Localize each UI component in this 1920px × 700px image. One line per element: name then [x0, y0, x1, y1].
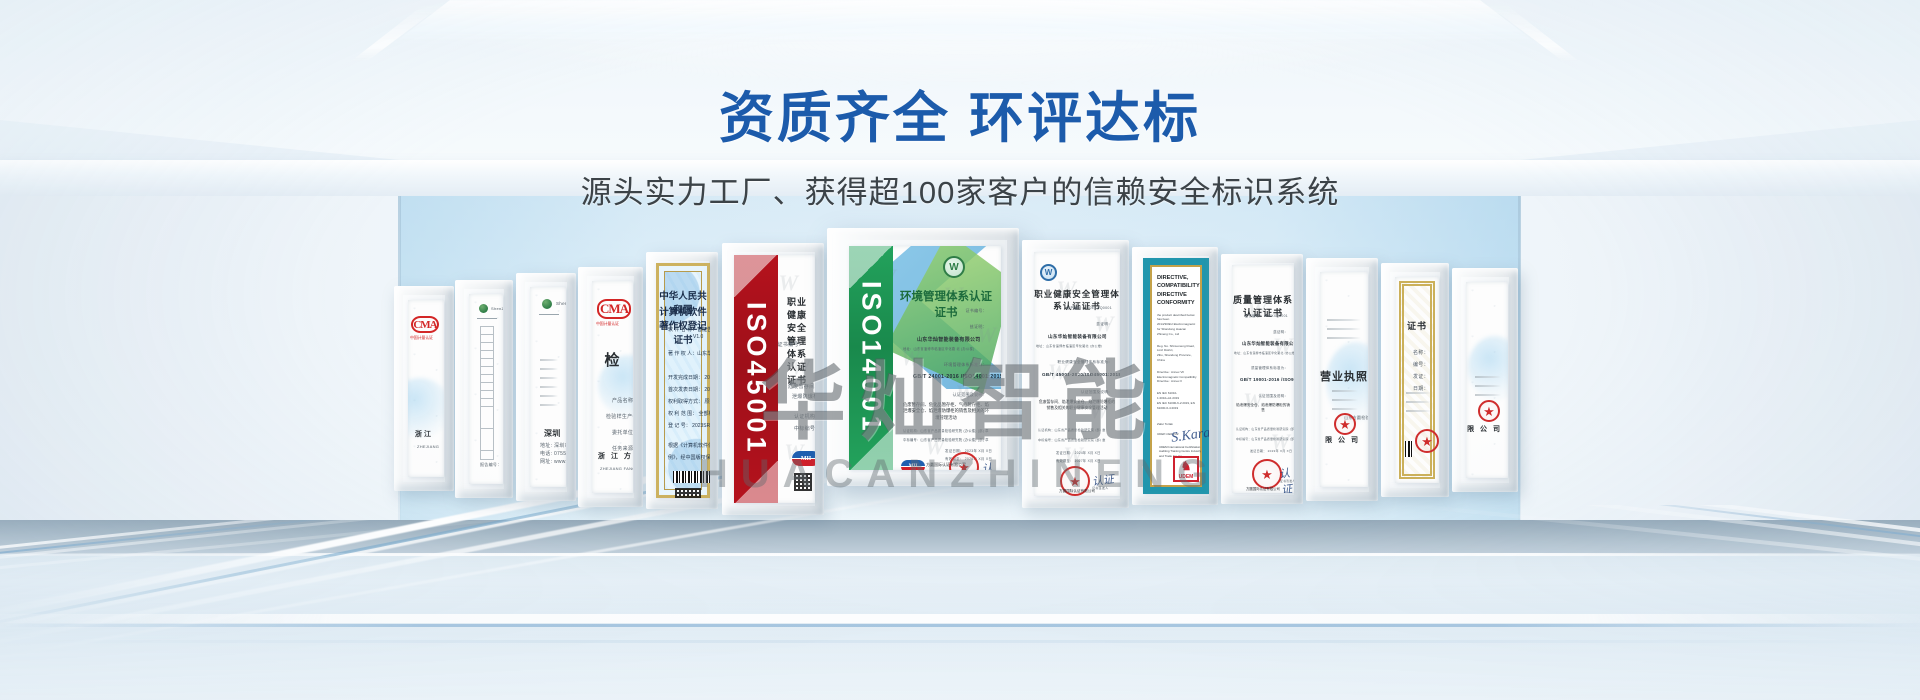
certificate-frame-3[interactable]: ShenZhen 深圳 地址: 深圳市 电话: 0755- 网址: www.sh	[516, 273, 576, 501]
certificate-paper-9: DIRECTIVE, COMPATIBILITY DIRECTIVE CONFO…	[1143, 258, 1209, 494]
iso45001-label: ISO45001	[741, 302, 772, 456]
cert-no-label-7: 证书编号：	[966, 308, 988, 313]
report-fields-3	[540, 359, 558, 413]
cert-footer-sub-4: ZHEJIANG FANGYUAN	[600, 466, 633, 471]
certificate-paper-1: CMA 中国计量认证 浙江 ZHEJIANG	[408, 300, 444, 477]
certificate-frame-8[interactable]: WW WW W W 职业健康安全管理体系认证证书 证书编号： 00EXXQ000…	[1022, 240, 1129, 508]
org-seal-icon-2	[479, 304, 488, 313]
ce-title-line-2: COMPATIBILITY DIRECTIVE	[1157, 282, 1197, 299]
certificate-frame-1[interactable]: CMA 中国计量认证 浙江 ZHEJIANG	[394, 286, 454, 491]
org-seal-icon-3	[542, 299, 552, 309]
certificate-paper-13: 有 限 公 司	[1466, 282, 1508, 478]
cert-org-7: 山东华灿智能装备有限公司	[917, 336, 981, 343]
red-stamp-icon-13	[1478, 400, 1500, 422]
cert-org-8: 山东华灿智能装备有限公司	[1048, 334, 1107, 340]
page-title: 资质齐全 环评达标	[0, 86, 1920, 151]
certificate-frame-11[interactable]: 营业执照 山东方圆检验 有 限 公 司	[1306, 258, 1378, 501]
red-stamp-icon-12	[1415, 429, 1439, 453]
cert-title-7: 环境管理体系认证证书	[897, 288, 995, 320]
certificate-showcase-banner: 资质齐全 环评达标 源头实力工厂、获得超100家客户的信赖安全标识系统 CMA …	[0, 0, 1920, 700]
org-label-7: 兹证明：	[970, 324, 987, 330]
iso14001-side-bar: ISO14001	[849, 246, 893, 470]
certificate-paper-11: 营业执照 山东方圆检验 有 限 公 司	[1320, 272, 1368, 487]
cma-badge-icon: CMA	[411, 316, 439, 333]
cma-badge-icon-4: CMA	[597, 299, 631, 319]
cert-footer-11: 有 限 公 司	[1320, 435, 1360, 445]
certificate-frame-7[interactable]: WW WW WW W ISO14001 W 环境管理体系认证证书 证书编号： 兹…	[827, 228, 1019, 486]
certificate-frame-12[interactable]: 证书 名称： 编号： 发证： 日期：	[1381, 263, 1449, 497]
cert-title-4: 检	[592, 349, 633, 370]
certification-seal-icon-8: W	[1040, 264, 1057, 281]
iso45001-side-bar: ISO45001	[734, 255, 778, 503]
org-name-2: ShenZhen	[491, 306, 503, 311]
certificate-frame-5[interactable]: 中华人民共和国 计算机软件著作权登记证书 软 件 名 称：智能告知卡 V1.0 …	[646, 252, 718, 509]
certificate-paper-3: ShenZhen 深圳 地址: 深圳市 电话: 0755- 网址: www.sh	[530, 287, 566, 487]
scope-label-7: 认证范围及说明：	[953, 392, 987, 398]
certificate-frame-10[interactable]: WW WW 质量管理体系认证证书 证书编号： 00EXXQ0001 兹证明： 山…	[1221, 254, 1303, 504]
cert-org-10: 山东华灿智能装备有限公司	[1242, 341, 1294, 347]
udem-logo-icon: UDEM	[1173, 456, 1199, 482]
certificate-frame-2[interactable]: ShenZhen 报告编号：	[455, 280, 513, 498]
certificate-frame-9[interactable]: DIRECTIVE, COMPATIBILITY DIRECTIVE CONFO…	[1132, 247, 1218, 505]
cert-footer-4: 浙 江 方 圆 检	[598, 451, 633, 461]
red-star-stamp-icon-10	[1252, 459, 1282, 489]
cert-title-11: 营业执照	[1320, 368, 1368, 384]
qr-code-6	[794, 473, 812, 491]
cma-badge-sub-4: 中国计量认证	[596, 321, 619, 327]
certificate-paper-4: CMA 中国计量认证 检 产品名称 检验样生产者 委托单位 任务来源 浙 江 方…	[592, 281, 633, 493]
cert-standard-7: GB/T 24001-2016 /ISO14001:2015	[913, 374, 1001, 380]
cert-scope-10: 焰泄爆安全仓、焰泄爆防爆柜的销售	[1236, 403, 1290, 414]
certification-seal-icon-7: W	[943, 256, 965, 278]
cert-footer-sub-1: ZHEJIANG	[417, 444, 439, 449]
reflection-streak-blue	[0, 624, 1920, 627]
certificate-frame-4[interactable]: CMA 中国计量认证 检 产品名称 检验样生产者 委托单位 任务来源 浙 江 方…	[578, 267, 643, 507]
cert-issuer-8: 方圆国际认证有限公司	[1034, 489, 1120, 494]
cert-footer-13: 有 限 公 司	[1466, 424, 1502, 434]
certificate-paper-12: 证书 名称： 编号： 发证： 日期：	[1395, 277, 1439, 483]
parameter-table-2	[480, 326, 494, 460]
cert-scope-8: 危废暂存间、焰泄爆安全仓、焰泄爆防爆柜的销售及相关的职业健康安全管理活动	[1038, 400, 1116, 411]
red-stamp-icon-11	[1334, 413, 1356, 435]
standard-label-7: 环境管理体系标准为：	[944, 362, 987, 368]
ce-title-line-3: CONFORMITY	[1157, 299, 1197, 307]
ce-title-line-1: DIRECTIVE,	[1157, 274, 1197, 282]
mii-logo-icon-6: MII	[792, 451, 815, 466]
cert-scope-7: 危废暂存间、危化品暂存柜、气瓶暂存柜、焰泄爆安全仓、焰泄爆防爆柜的销售及相关的环…	[901, 402, 991, 421]
cert-footer-org-3: 深圳	[544, 428, 561, 439]
cert-standard-10: GB/T 19001-2016 /ISO9001:2015	[1240, 377, 1294, 382]
certificate-paper-2: ShenZhen 报告编号：	[469, 294, 503, 484]
certificate-paper-8: WW WW W W 职业健康安全管理体系认证证书 证书编号： 00EXXQ000…	[1034, 252, 1120, 496]
page-subtitle: 源头实力工厂、获得超100家客户的信赖安全标识系统	[0, 167, 1920, 212]
banner-headings: 资质齐全 环评达标 源头实力工厂、获得超100家客户的信赖安全标识系统	[0, 86, 1920, 212]
qr-code-5	[675, 488, 701, 498]
cert-footer-1: 浙江	[415, 429, 433, 439]
barcode-12	[1405, 441, 1413, 457]
certificate-paper-10: WW WW 质量管理体系认证证书 证书编号： 00EXXQ0001 兹证明： 山…	[1232, 265, 1294, 493]
iso14001-label: ISO14001	[856, 281, 887, 435]
certificate-frame-6[interactable]: WW WW WW ISO45001 职业健康安全管理体系认证证书 证书编号： 危…	[722, 243, 824, 515]
cert-issuer-10: 方圆国际认证有限公司	[1232, 486, 1294, 491]
barcode-5	[673, 471, 710, 483]
org-name-3: ShenZhen	[556, 301, 566, 306]
cma-badge-sub: 中国计量认证	[410, 335, 433, 341]
certificate-paper-6: WW WW WW ISO45001 职业健康安全管理体系认证证书 证书编号： 危…	[734, 255, 815, 503]
certificate-frame-13[interactable]: 有 限 公 司	[1452, 268, 1518, 492]
reflection-streak-main	[0, 614, 1920, 623]
certificate-paper-5: 中华人民共和国 计算机软件著作权登记证书 软 件 名 称：智能告知卡 V1.0 …	[656, 263, 710, 498]
certificate-paper-7: WW WW WW W ISO14001 W 环境管理体系认证证书 证书编号： 兹…	[849, 246, 1001, 470]
cert-issuer-7: 方圆国际认证有限公司	[897, 462, 995, 468]
cert-standard-8: GB/T 45001-2020/ISO45001:2018	[1042, 372, 1120, 377]
cert-title-12: 证书	[1395, 319, 1439, 332]
software-copyright-art: 中华人民共和国 计算机软件著作权登记证书 软 件 名 称：智能告知卡 V1.0 …	[656, 263, 710, 498]
